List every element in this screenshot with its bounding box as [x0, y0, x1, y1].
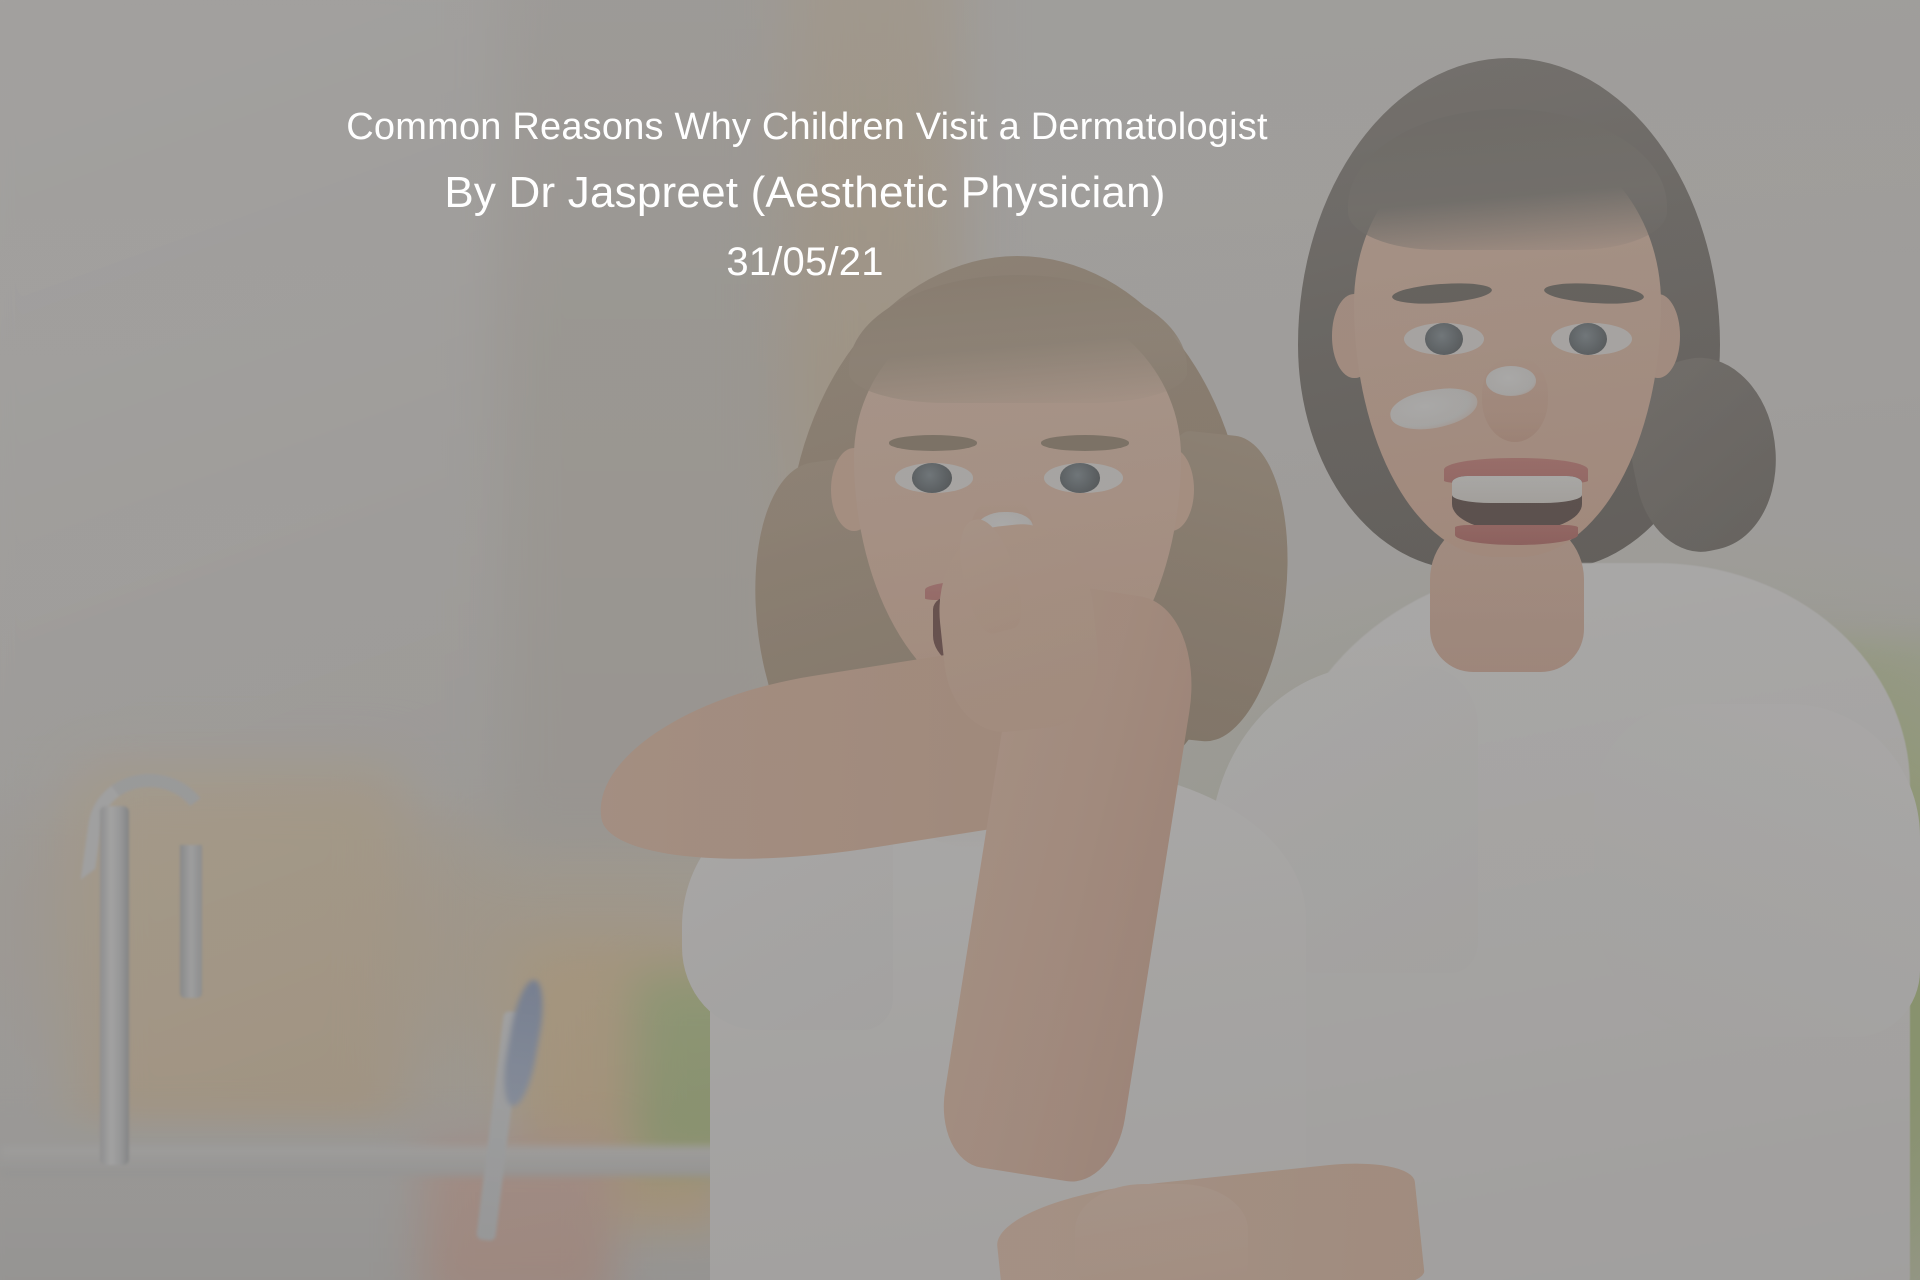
- hero-text-block: Common Reasons Why Children Visit a Derm…: [0, 0, 1610, 288]
- page-title: Common Reasons Why Children Visit a Derm…: [0, 104, 1610, 150]
- hero-banner: Common Reasons Why Children Visit a Derm…: [0, 0, 1920, 1280]
- author-byline: By Dr Jaspreet (Aesthetic Physician): [0, 164, 1610, 222]
- publish-date: 31/05/21: [0, 236, 1610, 288]
